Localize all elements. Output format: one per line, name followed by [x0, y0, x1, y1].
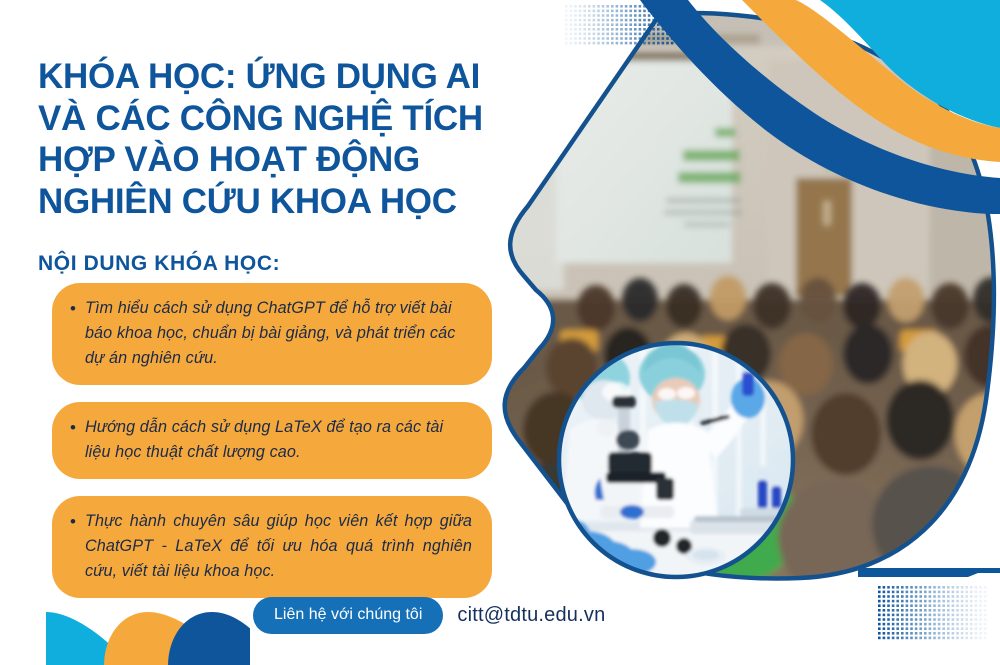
main-photo-outline	[505, 13, 994, 578]
list-item-text: Thực hành chuyên sâu giúp học viên kết h…	[85, 509, 472, 584]
list-item: • Tìm hiểu cách sử dụng ChatGPT để hỗ tr…	[52, 283, 492, 385]
section-heading: NỘI DUNG KHÓA HỌC:	[38, 252, 280, 276]
list-item: • Hướng dẫn cách sử dụng LaTeX để tạo ra…	[52, 402, 492, 479]
dot-grid-top	[565, 5, 677, 63]
list-item: • Thực hành chuyên sâu giúp học viên kết…	[52, 496, 492, 598]
bullet-marker-icon: •	[70, 415, 76, 440]
blue-ribbon	[640, 0, 1000, 214]
laboratory-photo	[542, 340, 798, 588]
contact-us-button[interactable]: Liên hệ với chúng tôi	[253, 597, 443, 634]
title-line-4: NGHIÊN CỨU KHOA HỌC	[38, 181, 558, 223]
lecture-hall-photo	[500, 0, 1000, 600]
contact-bar: Liên hệ với chúng tôi citt@tdtu.edu.vn	[253, 597, 605, 634]
title-line-1: KHÓA HỌC: ỨNG DỤNG AI	[38, 56, 558, 98]
contact-email[interactable]: citt@tdtu.edu.vn	[457, 604, 605, 627]
cyan-ribbon	[820, 0, 1000, 128]
page-title: KHÓA HỌC: ỨNG DỤNG AI VÀ CÁC CÔNG NGHỆ T…	[38, 56, 558, 223]
list-item-text: Hướng dẫn cách sử dụng LaTeX để tạo ra c…	[85, 415, 472, 465]
orange-ribbon	[742, 0, 1000, 162]
title-line-2: VÀ CÁC CÔNG NGHỆ TÍCH	[38, 98, 558, 140]
inset-photo-outline	[559, 343, 793, 577]
bullet-marker-icon: •	[70, 296, 76, 321]
blue-bar-bottom-right	[858, 568, 1000, 578]
dot-grid-bottom	[878, 586, 990, 658]
course-content-list: • Tìm hiểu cách sử dụng ChatGPT để hỗ tr…	[52, 283, 492, 615]
list-item-text: Tìm hiểu cách sử dụng ChatGPT để hỗ trợ …	[85, 296, 472, 371]
poster-canvas: KHÓA HỌC: ỨNG DỤNG AI VÀ CÁC CÔNG NGHỆ T…	[0, 0, 1000, 665]
title-line-3: HỢP VÀO HOẠT ĐỘNG	[38, 139, 558, 181]
bullet-marker-icon: •	[70, 509, 76, 534]
text-content: KHÓA HỌC: ỨNG DỤNG AI VÀ CÁC CÔNG NGHỆ T…	[0, 0, 560, 665]
